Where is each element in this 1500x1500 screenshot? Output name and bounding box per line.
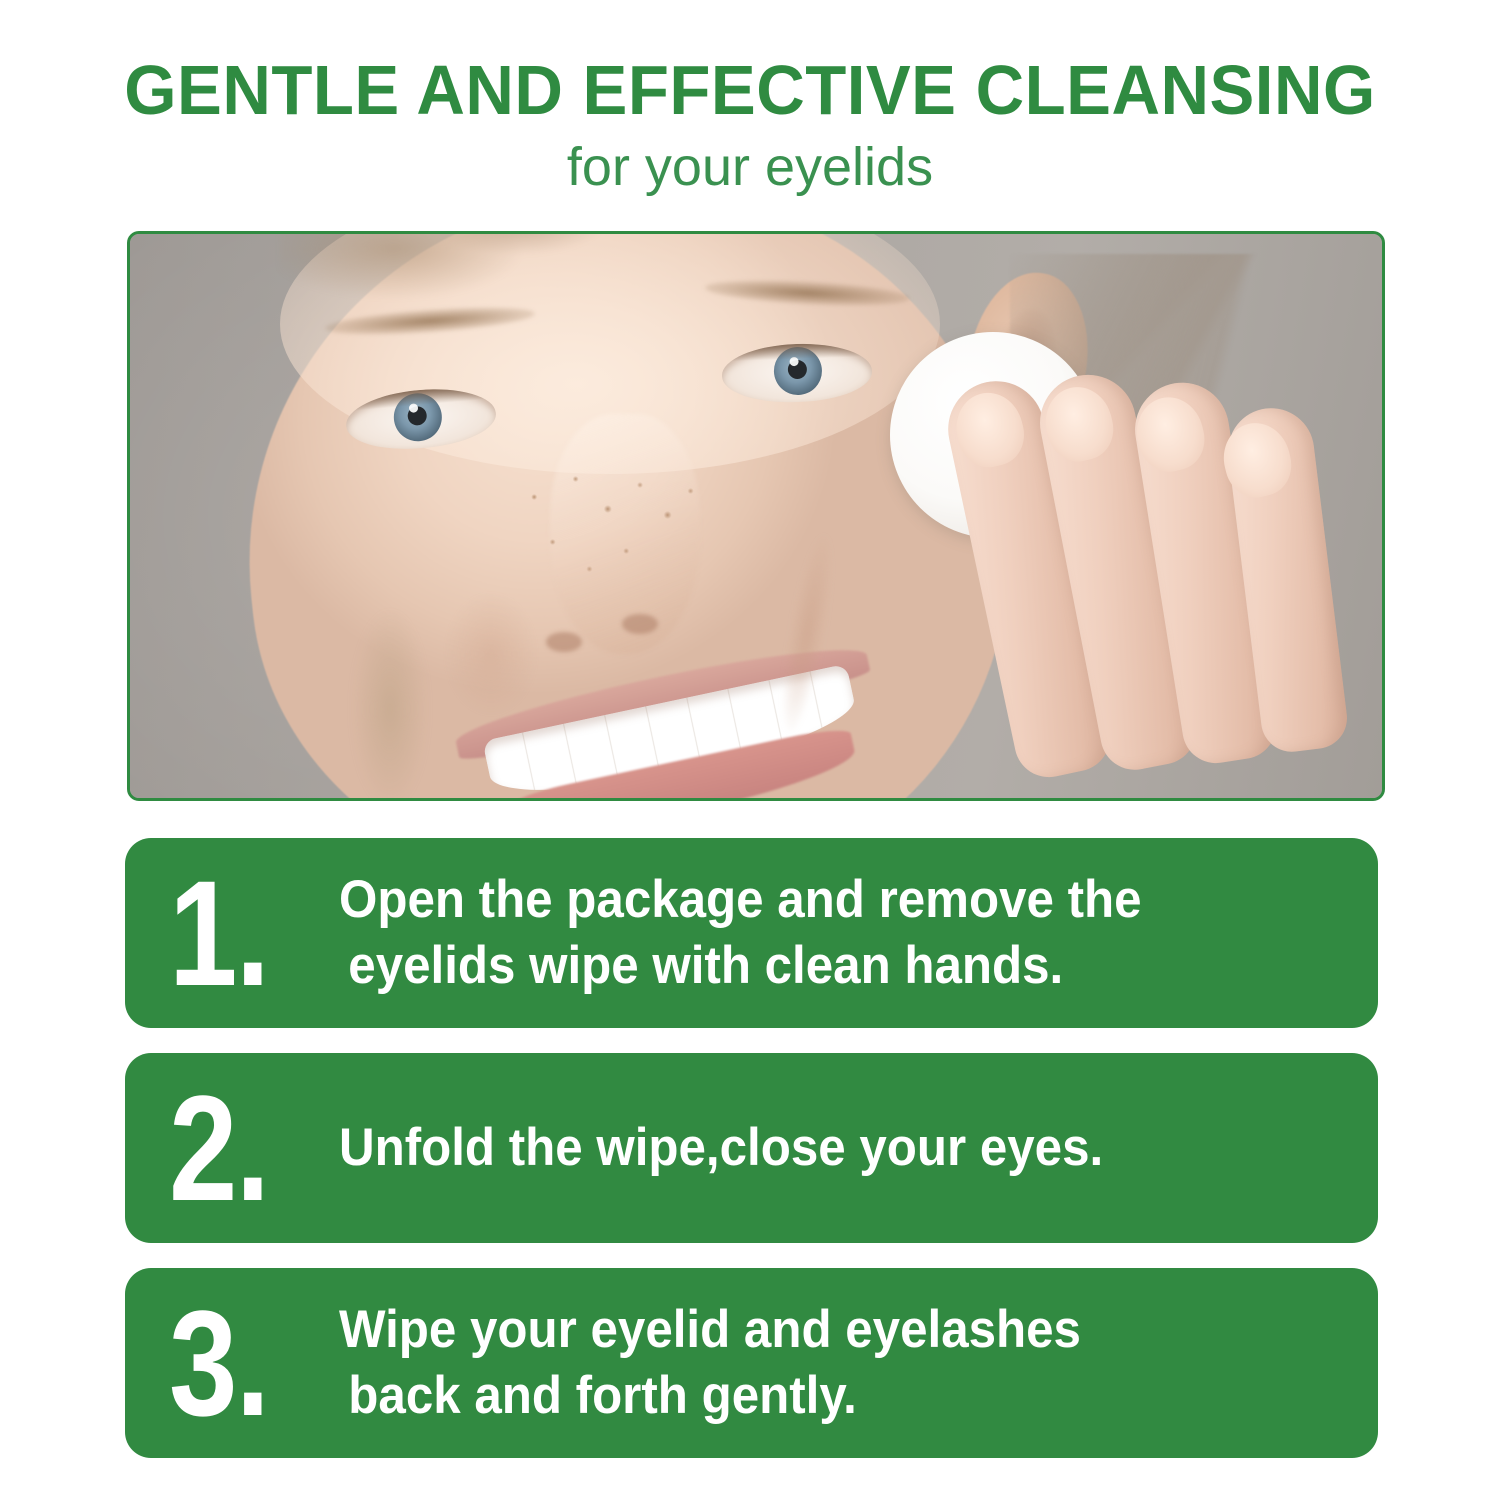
- step-text-1: Open the package and remove the eyelids …: [339, 867, 1281, 999]
- step-card-2: 2. Unfold the wipe,close your eyes.: [125, 1053, 1378, 1243]
- step-text-1-line-1: Open the package and remove the: [339, 870, 1142, 929]
- step-text-2-line-1: Unfold the wipe,close your eyes.: [339, 1118, 1103, 1177]
- step-text-3-line-2: back and forth gently.: [339, 1363, 1281, 1429]
- freckles: [502, 464, 732, 614]
- hero-photo: [127, 231, 1385, 801]
- step-text-3-line-1: Wipe your eyelid and eyelashes: [339, 1300, 1081, 1359]
- page-title: GENTLE AND EFFECTIVE CLEANSING: [30, 0, 1470, 126]
- step-text-3: Wipe your eyelid and eyelashes back and …: [339, 1297, 1281, 1429]
- hair-strand-side: [335, 594, 445, 801]
- nostril-left: [546, 632, 582, 652]
- nostril-right: [622, 614, 658, 634]
- hair-wisps-top: [280, 231, 660, 354]
- step-number-2: 2.: [169, 1078, 308, 1218]
- step-card-1: 1. Open the package and remove the eyeli…: [125, 838, 1378, 1028]
- page-subtitle: for your eyelids: [0, 126, 1500, 196]
- step-text-2: Unfold the wipe,close your eyes.: [339, 1115, 1281, 1181]
- step-number-3: 3.: [169, 1293, 308, 1433]
- photo-backdrop: [130, 234, 1382, 798]
- step-number-1: 1.: [169, 863, 308, 1003]
- step-text-1-line-2: eyelids wipe with clean hands.: [339, 933, 1281, 999]
- step-card-3: 3. Wipe your eyelid and eyelashes back a…: [125, 1268, 1378, 1458]
- heading-block: GENTLE AND EFFECTIVE CLEANSING for your …: [0, 0, 1500, 196]
- step-list: 1. Open the package and remove the eyeli…: [125, 838, 1378, 1458]
- infographic-page: GENTLE AND EFFECTIVE CLEANSING for your …: [0, 0, 1500, 1500]
